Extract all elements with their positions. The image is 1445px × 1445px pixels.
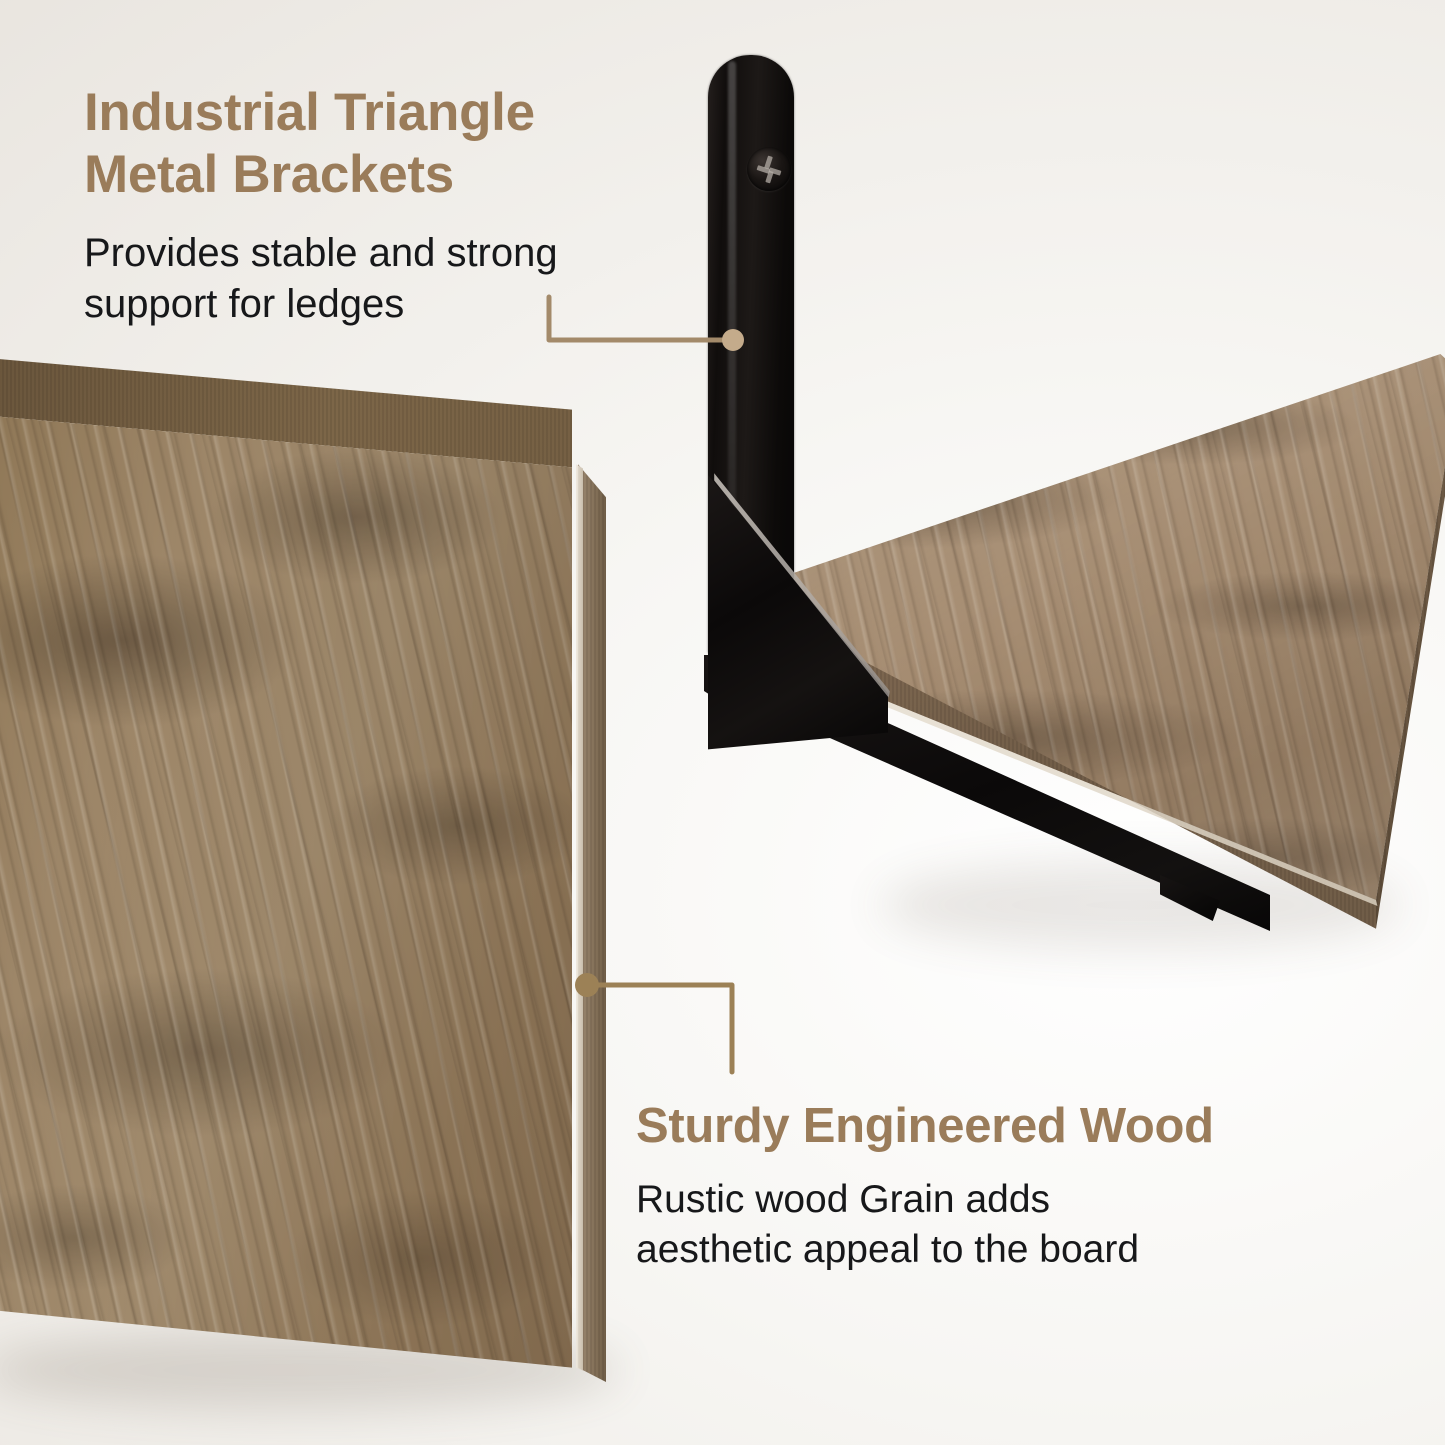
left-board-side-highlight — [576, 352, 583, 1382]
callout-wood: Sturdy Engineered Wood Rustic wood Grain… — [636, 1098, 1426, 1275]
callout-brackets-body: Provides stable and strong support for l… — [84, 228, 558, 330]
left-wood-board — [0, 352, 615, 1382]
callout-brackets-heading: Industrial Triangle Metal Brackets — [84, 82, 558, 206]
metal-bracket — [690, 55, 1230, 915]
bracket-triangle-gusset — [708, 475, 888, 755]
callout-wood-heading: Sturdy Engineered Wood — [636, 1098, 1426, 1155]
callout-brackets: Industrial Triangle Metal Brackets Provi… — [84, 82, 558, 330]
phillips-screw-icon — [747, 147, 791, 191]
product-feature-image: Industrial Triangle Metal Brackets Provi… — [0, 0, 1445, 1445]
callout-wood-body: Rustic wood Grain adds aesthetic appeal … — [636, 1175, 1426, 1275]
left-board-shading — [0, 352, 590, 1382]
